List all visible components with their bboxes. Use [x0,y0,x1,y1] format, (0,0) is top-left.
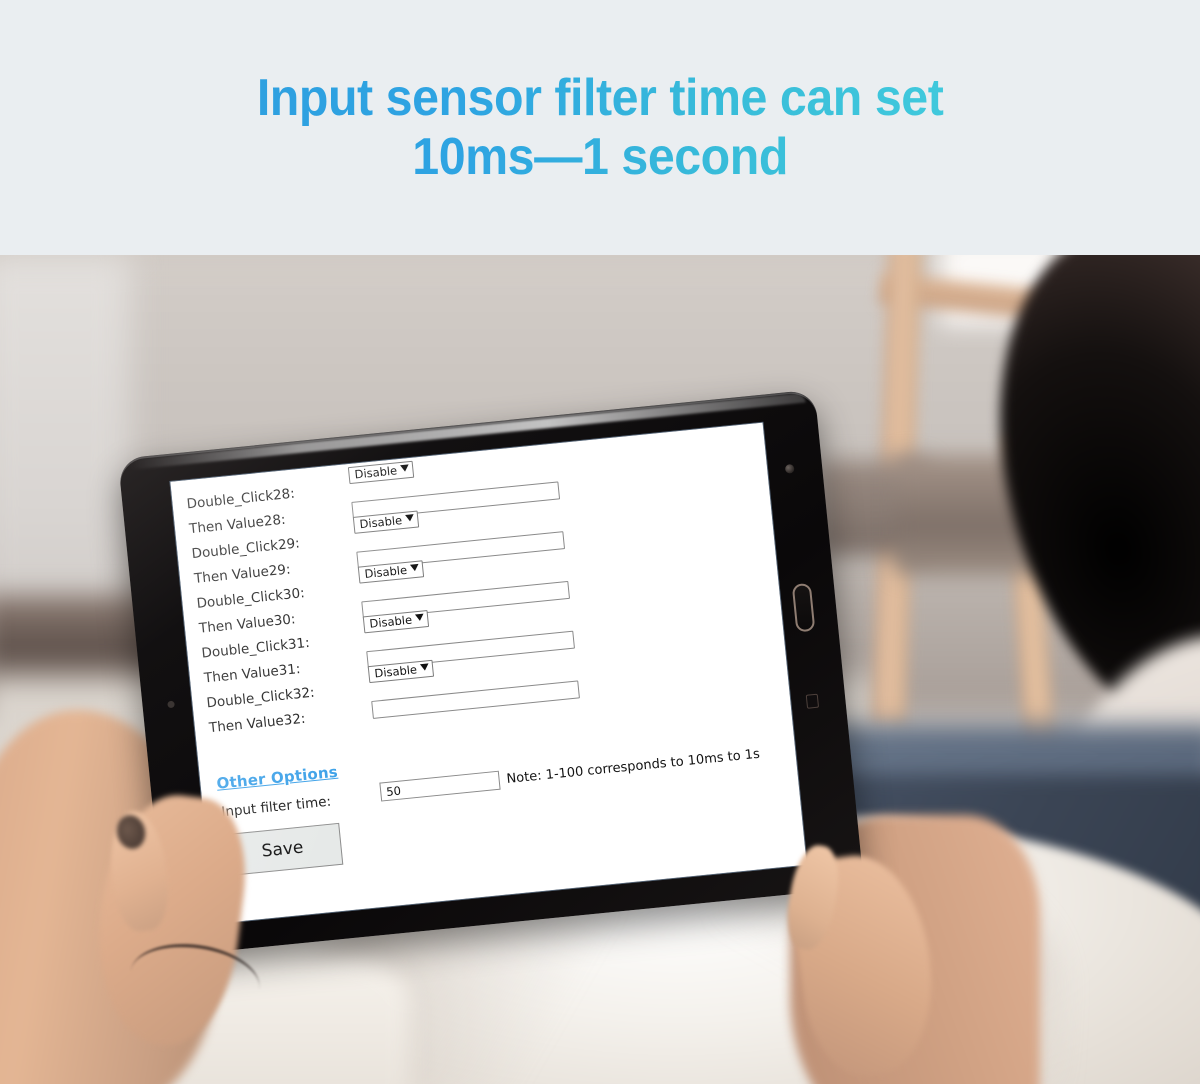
chevron-down-icon: ▼ [400,464,410,474]
chevron-down-icon: ▼ [410,564,420,574]
select-value: Disable [369,613,413,632]
promo-banner: Input sensor filter time can set 10ms—1 … [0,0,1200,255]
lifestyle-photo: Double_Click28: Disable ▼ Then Value28: [0,255,1200,1084]
label-input-filter-time: Input filter time: [221,794,332,821]
chevron-down-icon: ▼ [420,663,430,673]
page-title-line-2: 10ms—1 second [257,128,944,186]
input-filter-time[interactable]: 50 [379,771,500,802]
page-title-line-1: Input sensor filter time can set [257,69,944,127]
select-value: Disable [374,662,418,681]
input-value: 50 [380,772,499,802]
filter-time-note: Note: 1-100 corresponds to 10ms to 1s [506,747,761,787]
page-root: Input sensor filter time can set 10ms—1 … [0,0,1200,1084]
chevron-down-icon: ▼ [415,613,425,623]
select-double-click-28[interactable]: Disable ▼ [348,461,414,484]
select-value: Disable [354,463,398,482]
tablet-screen: Double_Click28: Disable ▼ Then Value28: [170,423,806,924]
select-value: Disable [359,513,403,532]
label-then-value-32: Then Value32: [208,711,306,737]
config-form: Double_Click28: Disable ▼ Then Value28: [170,423,806,924]
recent-apps-button[interactable] [806,694,819,709]
page-title: Input sensor filter time can set 10ms—1 … [220,69,981,185]
chevron-down-icon: ▼ [405,514,415,524]
select-value: Disable [364,563,408,582]
